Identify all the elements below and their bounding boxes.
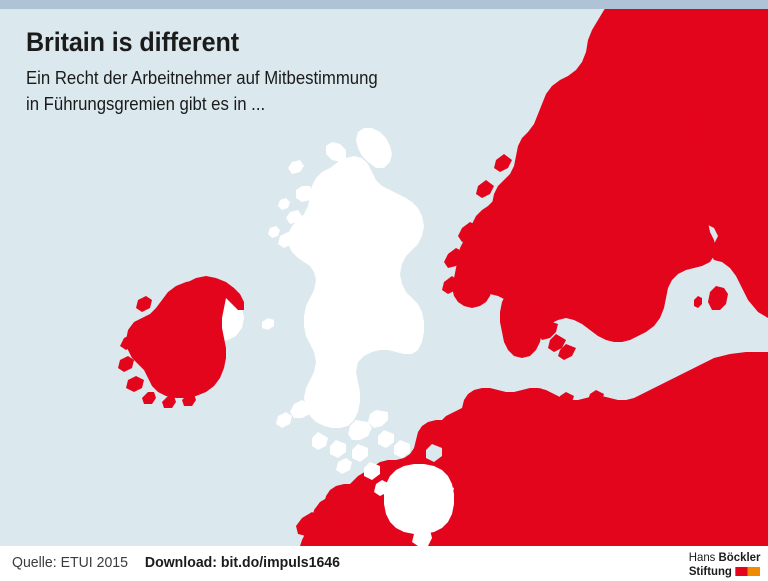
- source-label: Quelle: ETUI 2015: [12, 554, 128, 571]
- footer-text-group: Quelle: ETUI 2015 Download: bit.do/impul…: [12, 554, 340, 571]
- top-accent-strip: [0, 0, 768, 9]
- logo-stiftung: Stiftung: [688, 564, 731, 578]
- logo-hans: Hans: [688, 550, 718, 564]
- hans-boeckler-stiftung-logo[interactable]: Hans Böckler Stiftung: [688, 550, 760, 578]
- logo-boeckler: Böckler: [718, 550, 760, 564]
- logo-color-bar-icon: [735, 567, 760, 576]
- footer-bar: Quelle: ETUI 2015 Download: bit.do/impul…: [0, 546, 768, 581]
- map-canvas: [0, 9, 768, 546]
- download-link[interactable]: Download: bit.do/impuls1646: [145, 554, 340, 571]
- europe-map-svg: [0, 9, 768, 546]
- logo-line-2: Stiftung: [688, 564, 760, 578]
- logo-line-1: Hans Böckler: [688, 550, 760, 564]
- infographic-root: Britain is different Ein Recht der Arbei…: [0, 0, 768, 581]
